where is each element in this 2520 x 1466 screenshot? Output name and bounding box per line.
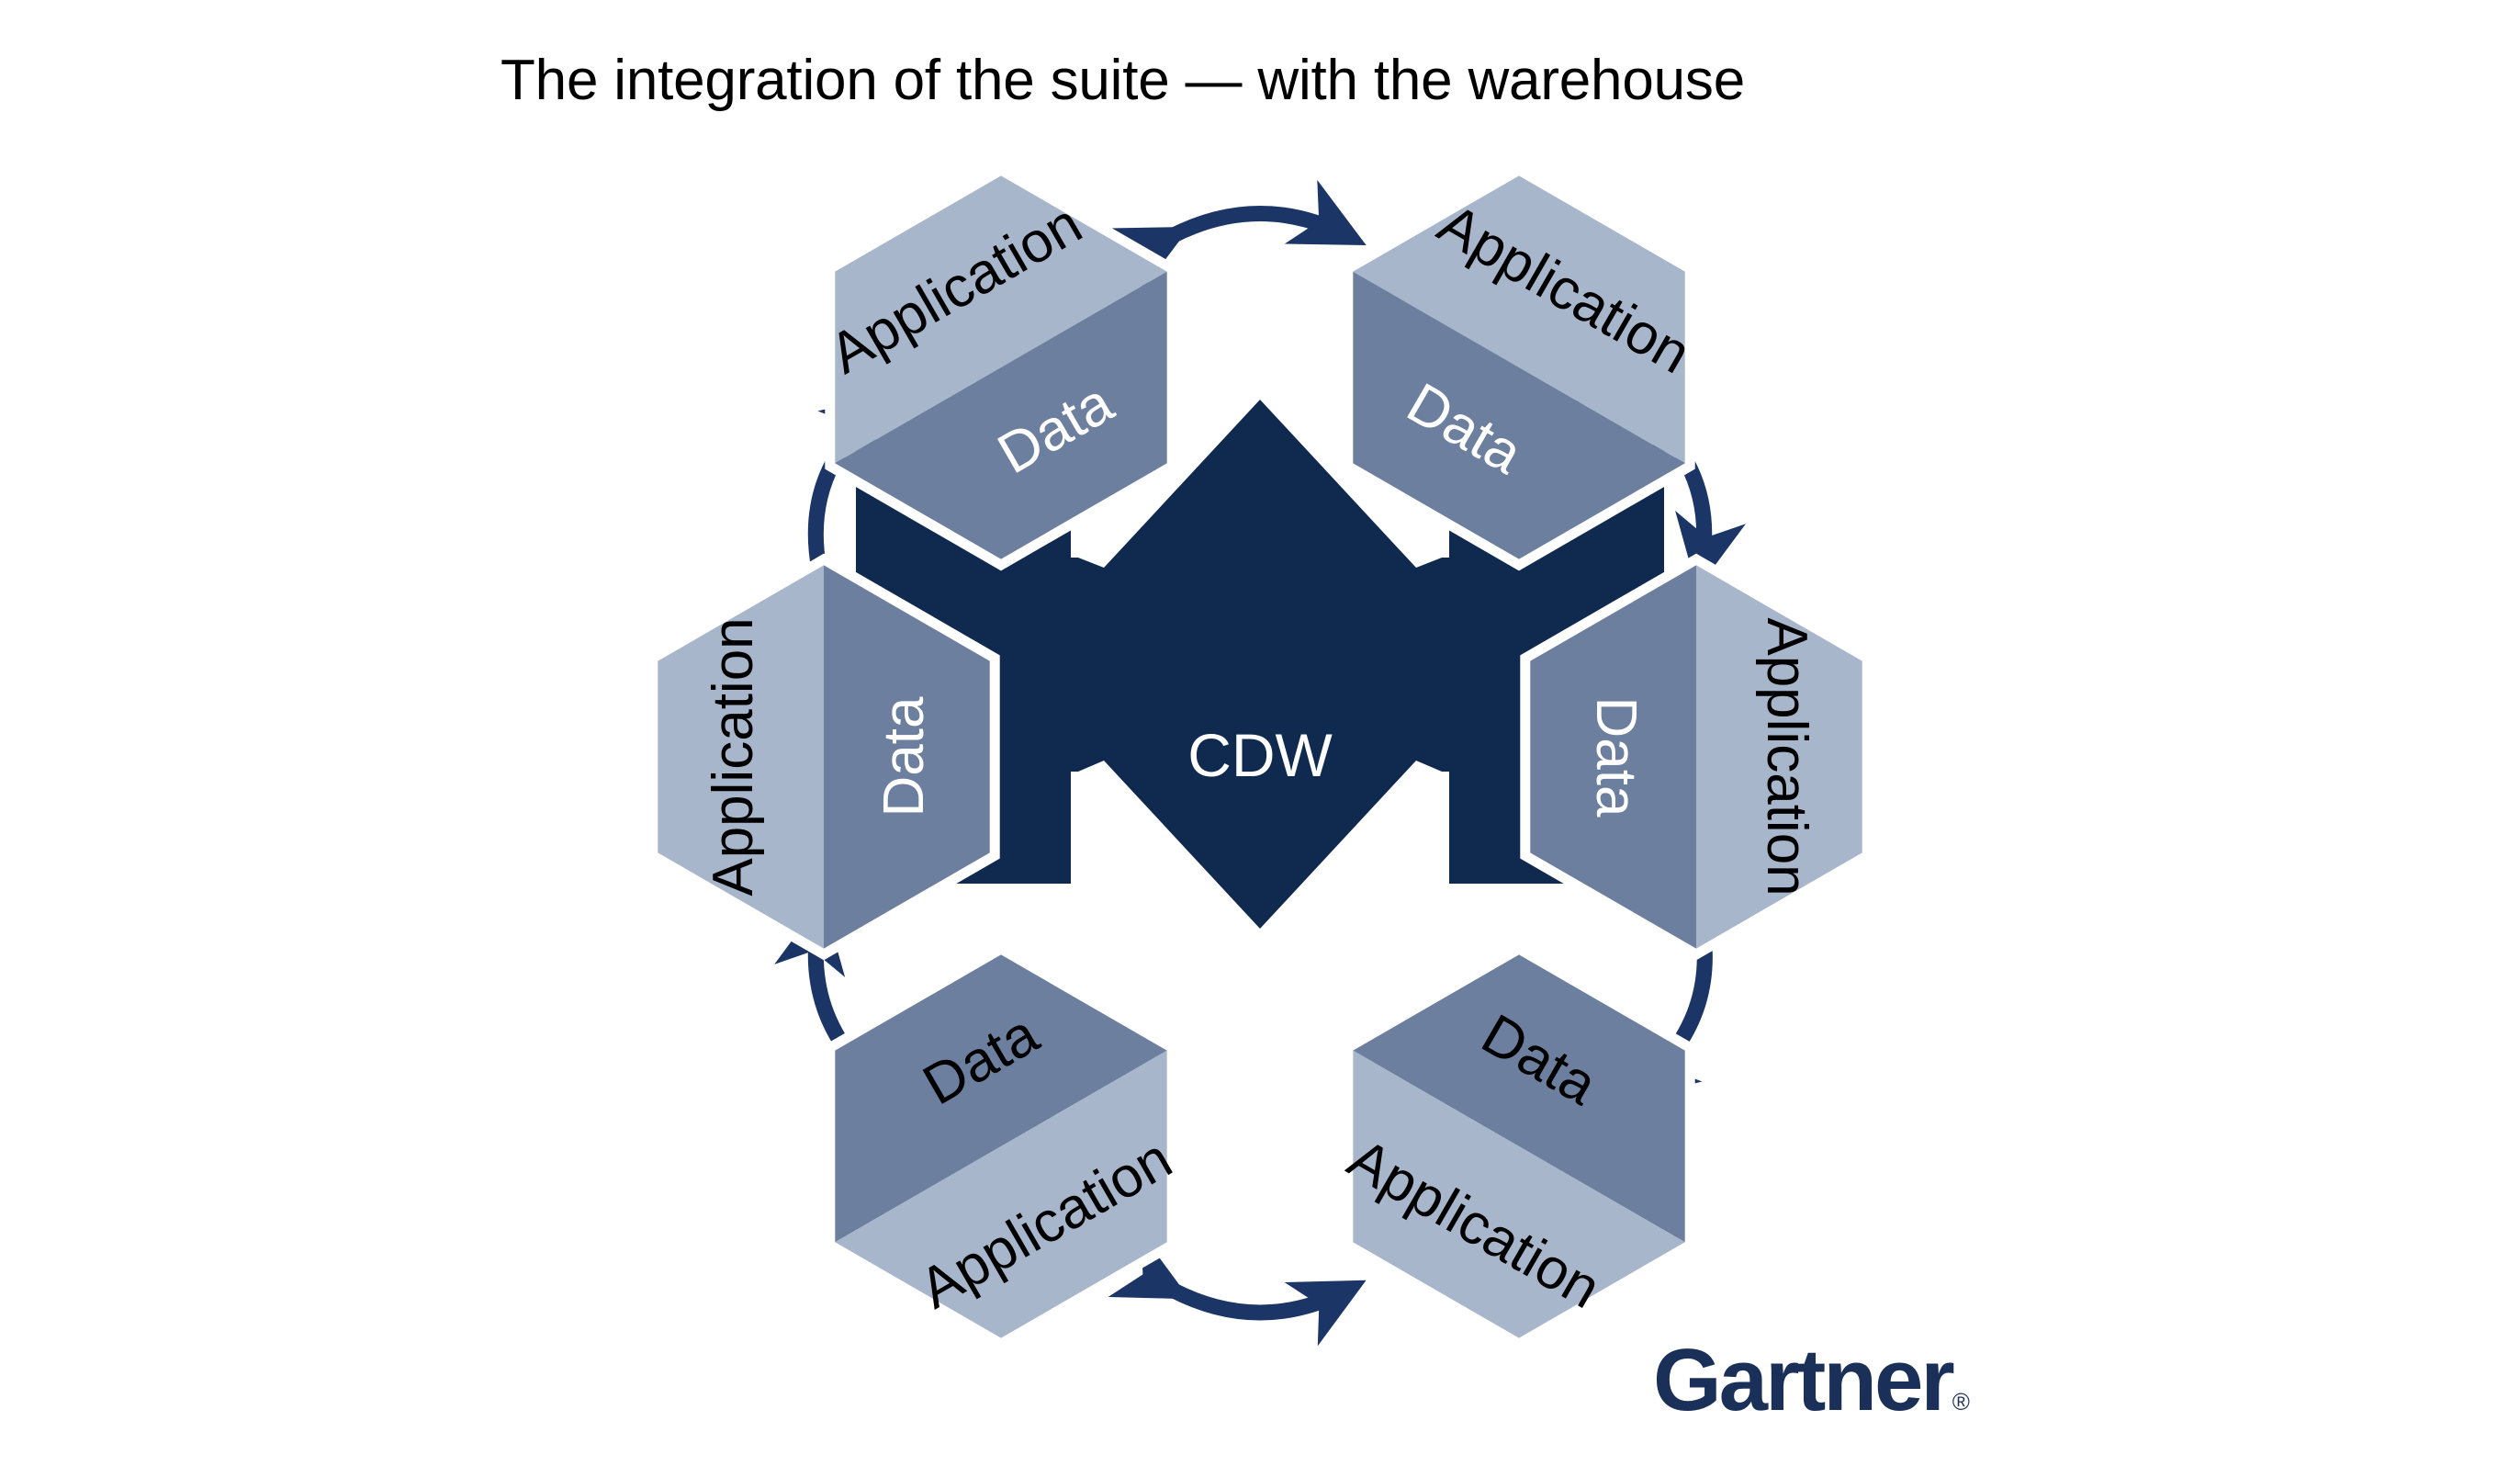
connector-arrow-top <box>1172 214 1348 237</box>
connector-arrow-bottom <box>1172 1290 1348 1313</box>
registered-trademark-icon: ® <box>1952 1388 1970 1415</box>
integration-diagram: CDW Application Data <box>0 0 2520 1466</box>
slide-canvas: The integration of the suite — with the … <box>0 0 2520 1466</box>
node-left-application-label: Application <box>702 617 765 896</box>
center-hub-label: CDW <box>1187 721 1333 789</box>
node-left-data-label: Data <box>872 696 936 817</box>
node-right-data-label: Data <box>1584 697 1648 818</box>
gartner-logo-text: Gartner <box>1653 1331 1952 1429</box>
node-right-application-label: Application <box>1755 617 1818 896</box>
gartner-logo: Gartner® <box>1653 1336 1970 1425</box>
